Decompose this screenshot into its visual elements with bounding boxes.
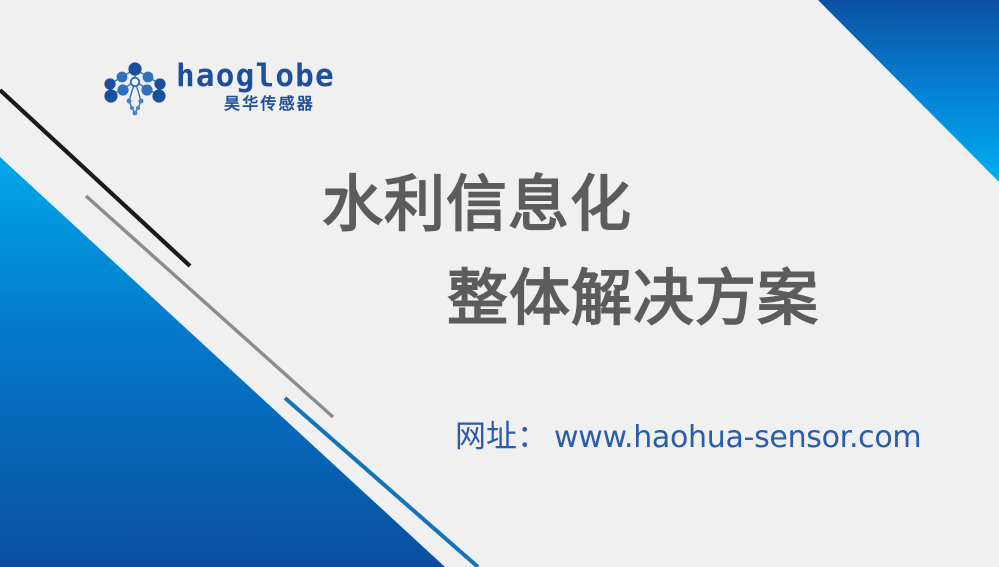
title-line-1: 水利信息化 xyxy=(322,174,632,235)
slide-title: 水利信息化 整体解决方案 xyxy=(0,0,999,567)
website-url[interactable]: www.haohua-sensor.com xyxy=(554,423,921,453)
website-line: 网址： www.haohua-sensor.com xyxy=(455,422,921,464)
title-slide: haoglobe 昊华传感器 水利信息化 整体解决方案 网址： www.haoh… xyxy=(0,0,999,567)
title-line-2: 整体解决方案 xyxy=(447,268,819,329)
website-label: 网址： xyxy=(455,422,548,453)
